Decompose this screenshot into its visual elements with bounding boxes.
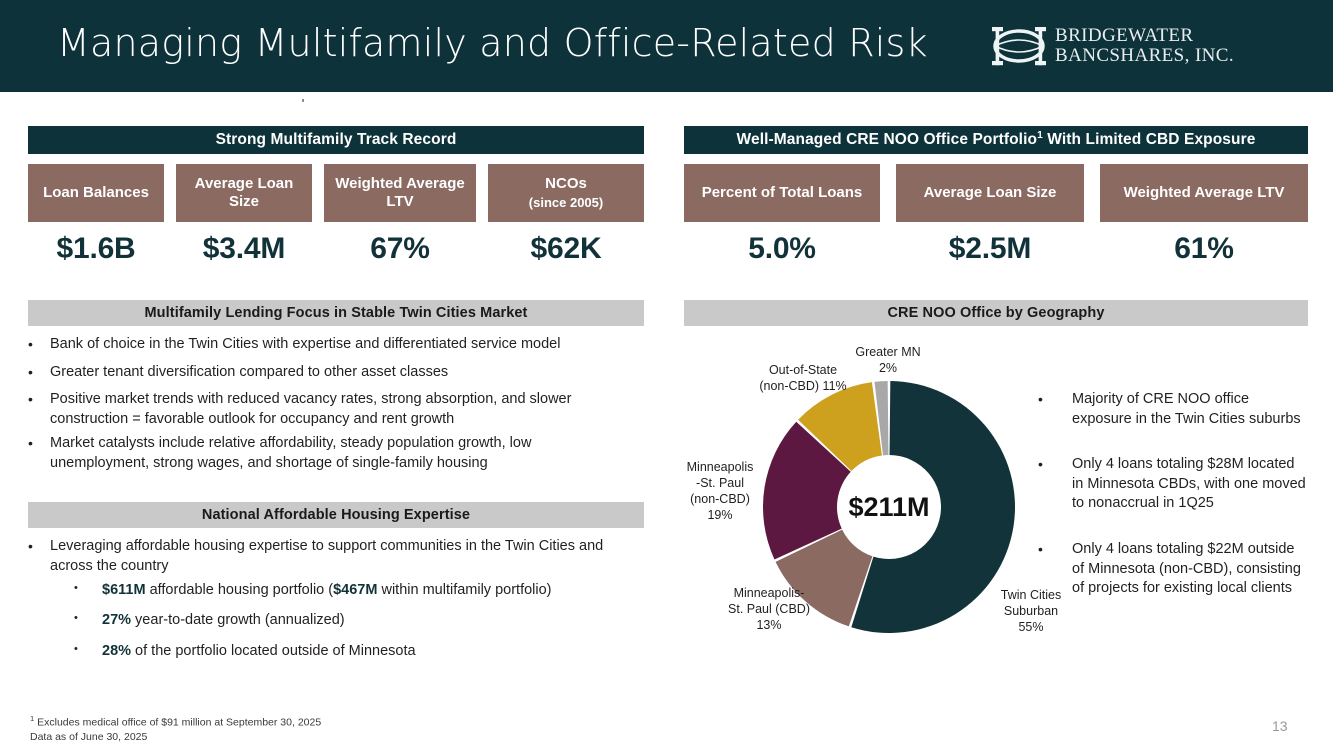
slice-label-minneapolis-st-paul-cbd: Minneapolis- St. Paul (CBD) 13% [713, 585, 825, 633]
metric-card-loan-balances: Loan Balances [28, 164, 164, 222]
list-item-text: Positive market trends with reduced vaca… [50, 390, 628, 429]
list-item: • Positive market trends with reduced va… [28, 390, 628, 429]
list-item-text: 28% of the portfolio located outside of … [102, 642, 674, 662]
bullet-marker: • [1038, 390, 1072, 429]
list-item-text: 27% year-to-date growth (annualized) [102, 611, 674, 631]
metric-value-weighted-average-ltv: 67% [324, 232, 476, 266]
metric-value-right-average-loan-size: $2.5M [896, 232, 1084, 266]
multifamily-lending-focus-banner: Multifamily Lending Focus in Stable Twin… [28, 300, 644, 326]
highlight-value: $611M [102, 582, 146, 598]
list-item: • $611M affordable housing portfolio ($4… [74, 581, 674, 601]
list-item-text: Greater tenant diversification compared … [50, 363, 658, 383]
banner-post: With Limited CBD Exposure [1043, 132, 1256, 149]
list-item: • Only 4 loans totaling $28M located in … [1038, 455, 1308, 514]
list-item: • Market catalysts include relative affo… [28, 434, 618, 473]
national-affordable-housing-banner: National Affordable Housing Expertise [28, 502, 644, 528]
list-item-text: Only 4 loans totaling $28M located in Mi… [1072, 455, 1308, 514]
list-item: • 27% year-to-date growth (annualized) [74, 611, 674, 631]
banner-pre: Well-Managed CRE NOO Office Portfolio [737, 132, 1038, 149]
sub-bullet-tail: within multifamily portfolio) [377, 582, 551, 598]
slice-label-line: Suburban [983, 603, 1079, 619]
metric-card-percent-of-total-loans: Percent of Total Loans [684, 164, 880, 222]
metric-value-right-weighted-average-ltv: 61% [1100, 232, 1308, 266]
highlight-value-secondary: $467M [333, 582, 377, 598]
slice-label-line: (non-CBD) 11% [742, 378, 864, 394]
bullet-marker: • [28, 390, 50, 429]
bullet-marker: • [1038, 455, 1072, 514]
footnote-line-2: Data as of June 30, 2025 [30, 730, 321, 744]
slice-label-line: Minneapolis- [713, 585, 825, 601]
metric-value-loan-balances: $1.6B [28, 232, 164, 266]
metric-card-weighted-average-ltv: Weighted Average LTV [324, 164, 476, 222]
slice-label-line: St. Paul (CBD) [713, 601, 825, 617]
list-item: • Majority of CRE NOO office exposure in… [1038, 390, 1308, 429]
stray-dot-artifact [302, 99, 304, 102]
metric-card-right-average-loan-size: Average Loan Size [896, 164, 1084, 222]
highlight-value: 28% [102, 643, 131, 659]
metric-card-label: Average Loan Size [924, 184, 1057, 202]
right-panel-banner: Well-Managed CRE NOO Office Portfolio1 W… [684, 126, 1308, 154]
metric-value-average-loan-size: $3.4M [176, 232, 312, 266]
sub-bullet-mid: of the portfolio located outside of Minn… [131, 643, 416, 659]
metric-card-label: Average Loan Size [180, 175, 308, 212]
bullet-marker: • [28, 434, 50, 473]
sub-bullet-mid: affordable housing portfolio ( [146, 582, 334, 598]
page-title: Managing Multifamily and Office-Related … [57, 21, 928, 65]
slice-label-line: -St. Paul [672, 475, 768, 491]
list-item: • 28% of the portfolio located outside o… [74, 642, 674, 662]
footnote-text-1: Excludes medical office of $91 million a… [34, 717, 321, 729]
cre-noo-office-by-geography-banner: CRE NOO Office by Geography [684, 300, 1308, 326]
list-item-text: Bank of choice in the Twin Cities with e… [50, 335, 658, 355]
logo-line-1: BRIDGEWATER [1055, 26, 1234, 46]
metric-card-label: Loan Balances [43, 184, 149, 202]
bullet-marker: • [74, 642, 102, 662]
logo-wordmark: BRIDGEWATER BANCSHARES, INC. [1055, 26, 1234, 66]
bullet-marker: • [74, 581, 102, 601]
bridgewater-bridge-logo-icon [990, 24, 1048, 68]
list-item: • Greater tenant diversification compare… [28, 363, 658, 383]
bullet-marker: • [28, 335, 50, 355]
metric-value-ncos: $62K [488, 232, 644, 266]
slice-label-percent: 19% [672, 507, 768, 523]
metric-card-label: Weighted Average LTV [328, 175, 472, 212]
bullet-marker: • [74, 611, 102, 631]
metric-card-label: Percent of Total Loans [702, 184, 863, 202]
slice-label-minneapolis-st-paul-non-cbd: Minneapolis -St. Paul (non-CBD) 19% [672, 459, 768, 523]
slice-label-line: Greater MN [838, 344, 938, 360]
list-item-text: Leveraging affordable housing expertise … [50, 537, 640, 576]
slice-label-percent: 2% [838, 360, 938, 376]
slice-label-line: (non-CBD) [672, 491, 768, 507]
list-item-text: Only 4 loans totaling $22M outside of Mi… [1072, 540, 1308, 599]
sub-bullet-mid: year-to-date growth (annualized) [131, 612, 345, 628]
left-panel-banner: Strong Multifamily Track Record [28, 126, 644, 154]
slice-label-percent: 55% [983, 619, 1079, 635]
metric-card-ncos: NCOs (since 2005) [488, 164, 644, 222]
footnotes: 1 Excludes medical office of $91 million… [30, 714, 321, 744]
list-item-text: Market catalysts include relative afford… [50, 434, 618, 473]
right-panel-banner-text: Well-Managed CRE NOO Office Portfolio1 W… [737, 130, 1256, 149]
bullet-marker: • [1038, 540, 1072, 599]
highlight-value: 27% [102, 612, 131, 628]
metric-card-right-weighted-average-ltv: Weighted Average LTV [1100, 164, 1308, 222]
slice-label-line: Minneapolis [672, 459, 768, 475]
list-item-text: Majority of CRE NOO office exposure in t… [1072, 390, 1308, 429]
list-item: • Bank of choice in the Twin Cities with… [28, 335, 658, 355]
slice-label-greater-mn: Greater MN 2% [838, 344, 938, 376]
slice-label-percent: 13% [713, 617, 825, 633]
metric-card-average-loan-size: Average Loan Size [176, 164, 312, 222]
company-logo: BRIDGEWATER BANCSHARES, INC. [990, 24, 1234, 68]
footnote-line-1: 1 Excludes medical office of $91 million… [30, 714, 321, 730]
metric-card-label: NCOs [545, 175, 587, 193]
list-item: • Only 4 loans totaling $22M outside of … [1038, 540, 1308, 599]
metric-card-sublabel: (since 2005) [529, 195, 603, 211]
logo-line-2: BANCSHARES, INC. [1055, 46, 1234, 66]
list-item: • Leveraging affordable housing expertis… [28, 537, 640, 576]
metric-value-percent-of-total-loans: 5.0% [684, 232, 880, 266]
metric-card-label: Weighted Average LTV [1124, 184, 1285, 202]
page-number: 13 [1272, 718, 1288, 734]
bullet-marker: • [28, 363, 50, 383]
list-item-text: $611M affordable housing portfolio ($467… [102, 581, 674, 601]
bullet-marker: • [28, 537, 50, 576]
